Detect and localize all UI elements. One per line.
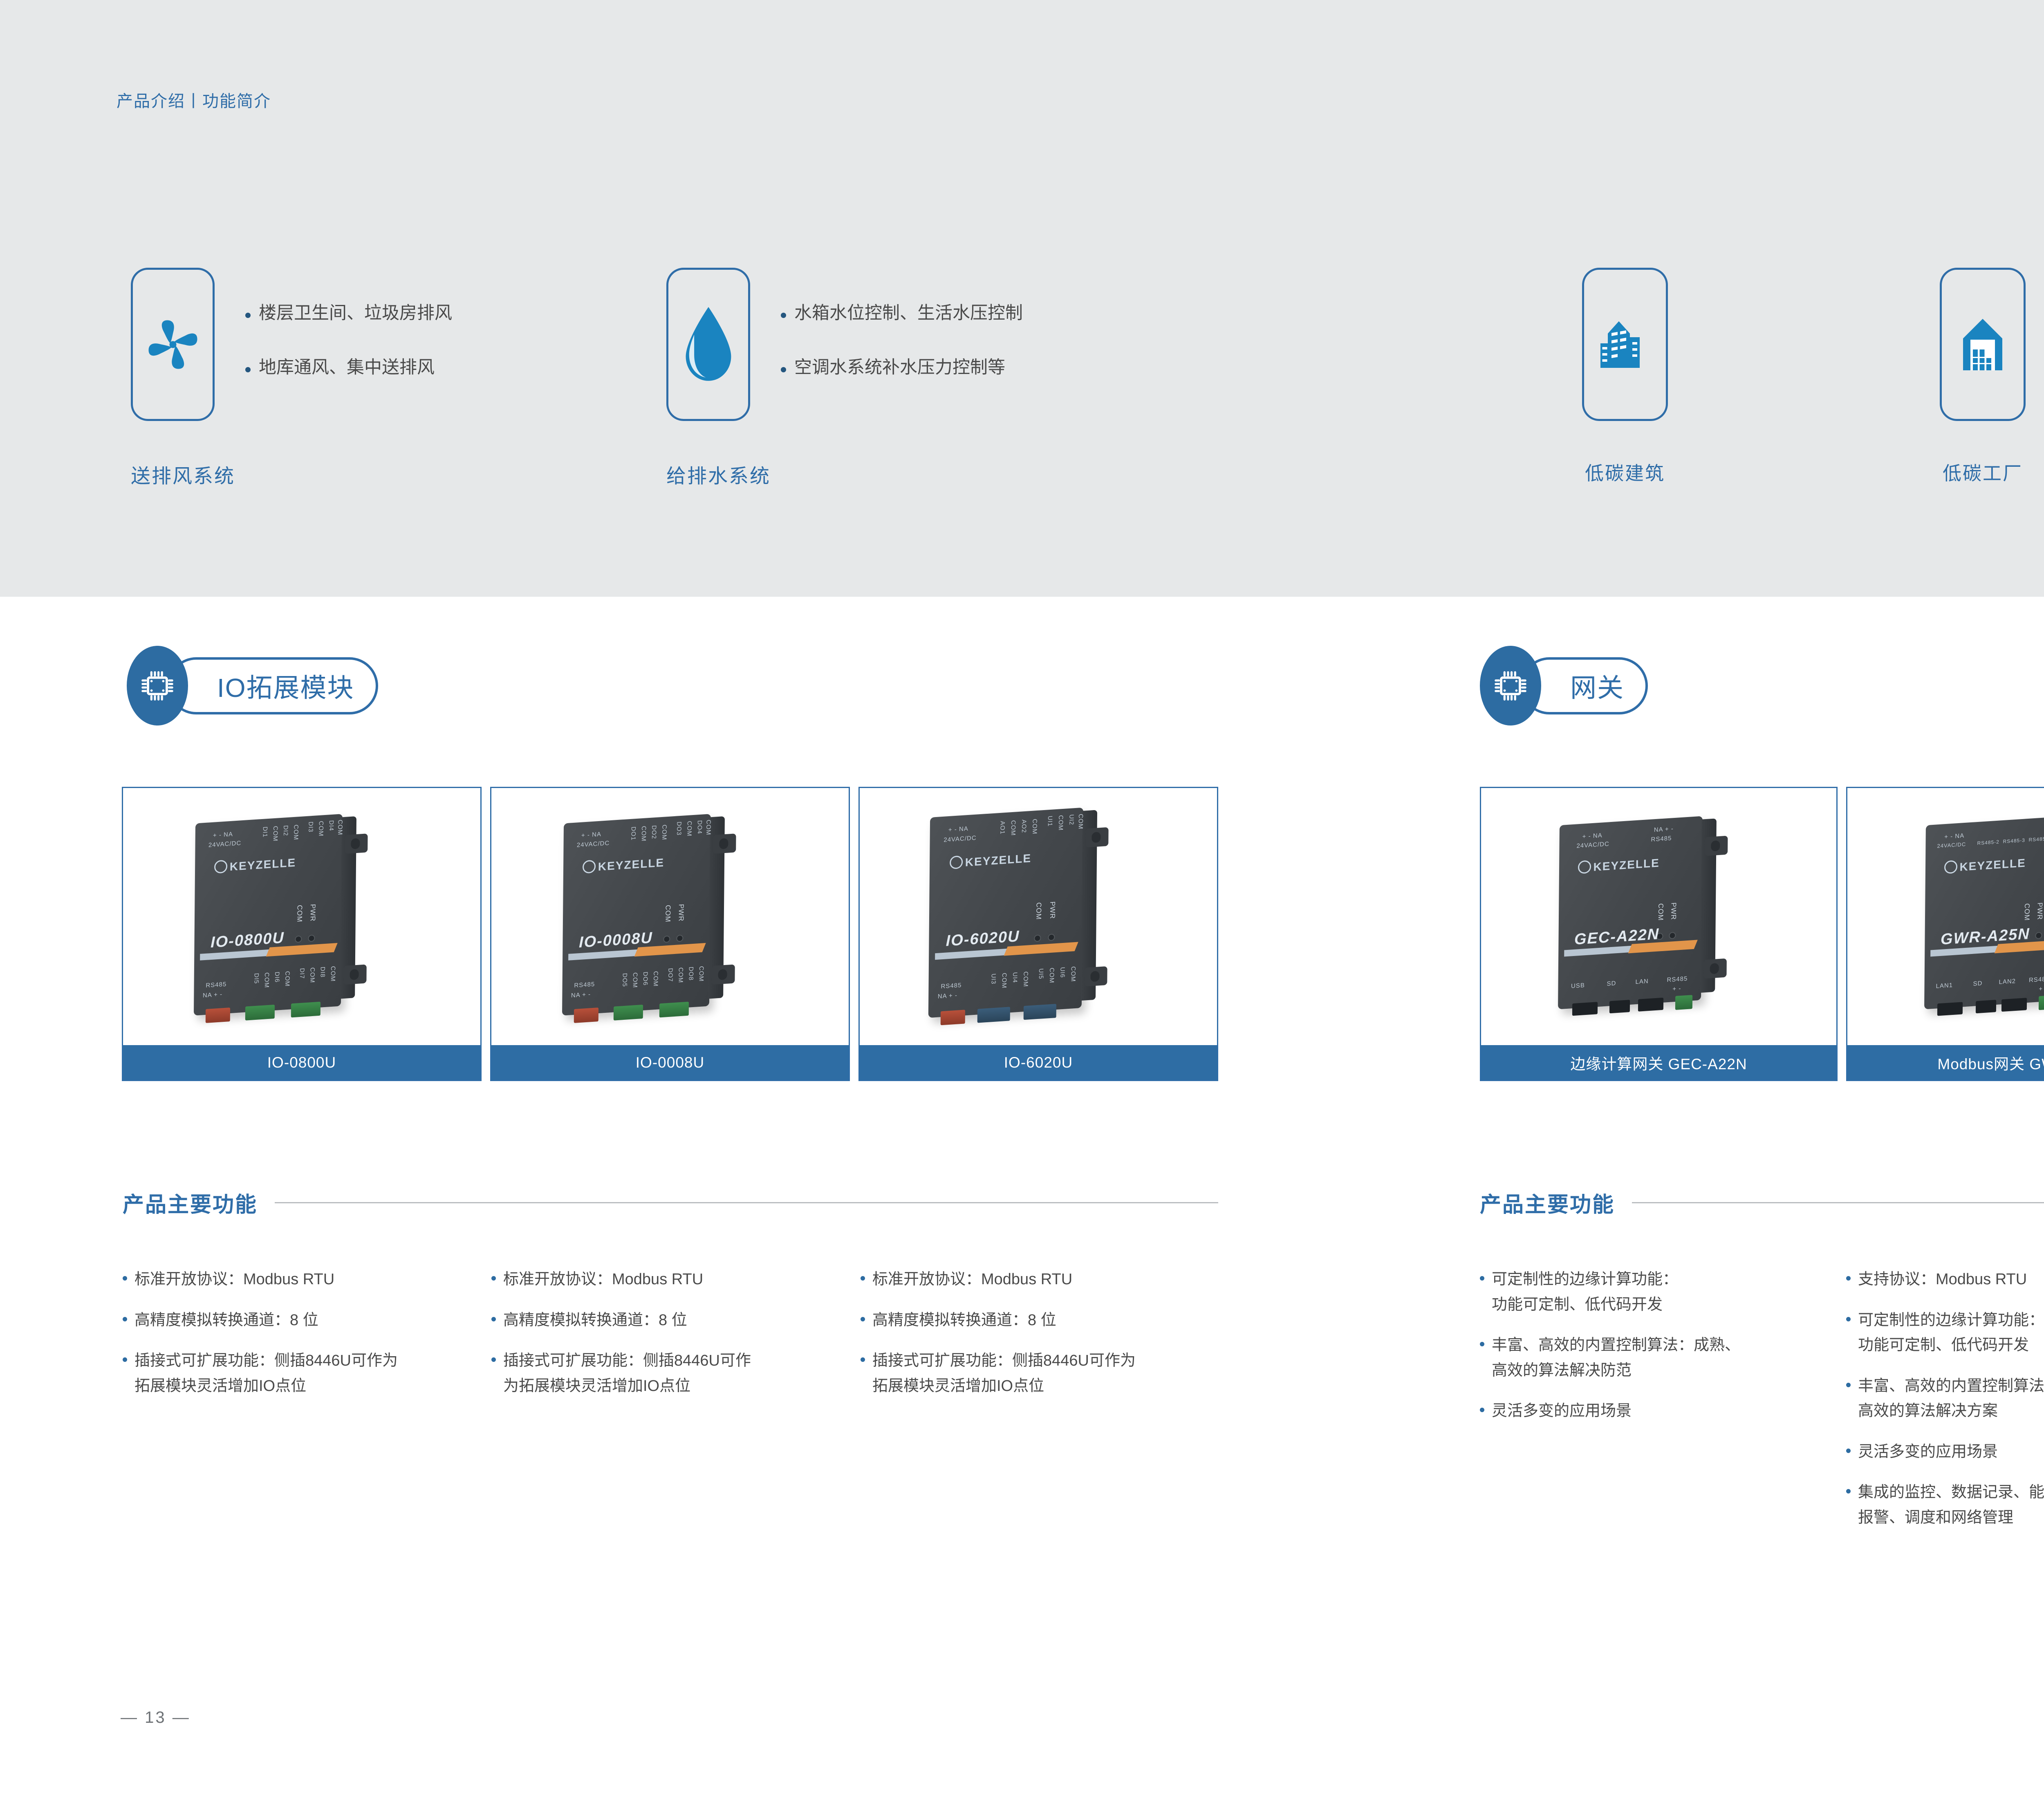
section-title-pill-io: IO拓展模块 (168, 657, 378, 714)
product-name: 边缘计算网关 GEC-A22N (1481, 1045, 1836, 1080)
port-label-rs485-3: RS485-3 (2003, 837, 2025, 844)
feature-item: 可定制性的边缘计算功能： 功能可定制、低代码开发 (1480, 1267, 1827, 1317)
bullet-dot (1480, 1342, 1484, 1346)
product-name: IO-0008U (491, 1045, 849, 1080)
power-pins-label: + - NA (581, 831, 601, 839)
port-label-rs485-1: RS485-1 (2029, 975, 2044, 984)
mount-ear-top (713, 833, 736, 854)
port-label-rs485-2: RS485-2 (1977, 839, 1999, 846)
terminal-com: COM (284, 971, 291, 987)
running-head-left: 产品介绍丨功能简介 (117, 88, 271, 112)
terminal-com: COM (309, 967, 316, 983)
terminal-com: COM (677, 967, 684, 983)
feature-item: 灵活多变的应用场景 (1480, 1399, 1827, 1424)
feature-text: 插接式可扩展功能：侧插8446U可作为 拓展模块灵活增加IO点位 (872, 1348, 1136, 1399)
bullet-dot (781, 367, 786, 372)
port-label-lan1: LAN1 (1936, 982, 1953, 990)
ventilation-bullets: 楼层卫生间、垃圾房排风 地库通风、集中送排风 (245, 304, 452, 413)
terminal-ui3: UI3 (990, 973, 997, 984)
terminal-ao2: AO2 (1020, 819, 1027, 833)
page-number-left: — 13 — (121, 1708, 191, 1727)
feature-item: 支持协议：Modbus RTU (1846, 1267, 2044, 1292)
feature-text: 可定制性的边缘计算功能： 功能可定制、低代码开发 (1492, 1267, 1678, 1317)
feature-column-gw-2: 支持协议：Modbus RTU 可定制性的边缘计算功能： 功能可定制、低代码开发… (1846, 1267, 2044, 1546)
connector-power (206, 1008, 230, 1023)
port-label-sd: SD (1973, 980, 1982, 987)
led-label-com: COM (295, 905, 303, 923)
terminal-com: COM (292, 824, 299, 840)
feature-item: 标准开放协议：Modbus RTU (123, 1267, 478, 1292)
terminal-com: COM (632, 972, 639, 988)
led-pwr (1048, 934, 1055, 941)
terminal-com: COM (1010, 820, 1017, 836)
mount-ear-top (345, 833, 368, 854)
bullet-dot (491, 1276, 496, 1281)
power-pins-label: + - NA (948, 825, 968, 833)
product-name: Modbus网关 GWR-A25N (1847, 1045, 2044, 1080)
connector-do-2 (659, 1002, 688, 1018)
led-label-pwr: PWR (677, 904, 685, 922)
port-pins: + - (2039, 985, 2044, 992)
bullet-dot (491, 1357, 496, 1362)
port-label-sd: SD (1607, 980, 1616, 987)
rs485-label: RS485 (941, 982, 961, 990)
chip-icon (1492, 667, 1529, 705)
bullet-dot (491, 1317, 496, 1321)
product-card[interactable]: + - NA 24VAC/DC AO1 COM AO2 COM UI1 COM … (858, 787, 1218, 1081)
device-illustration: + - NA 24VAC/DC NA + - RS485 KEYZELLE CO… (1558, 816, 1703, 1010)
bullet-item: 水箱水位控制、生活水压控制 (781, 304, 1023, 323)
feature-item: 插接式可扩展功能：侧插8446U可作为 拓展模块灵活增加IO点位 (123, 1348, 478, 1399)
feature-item: 插接式可扩展功能：侧插8446U可作 为拓展模块灵活增加IO点位 (491, 1348, 847, 1399)
port-label-usb: USB (1571, 982, 1585, 990)
feature-text: 集成的监控、数据记录、能耗计量、 报警、调度和网络管理 (1858, 1480, 2044, 1530)
terminal-di3: DI3 (307, 822, 314, 833)
bullet-text: 水箱水位控制、生活水压控制 (794, 304, 1023, 323)
brand-logo: KEYZELLE (1944, 855, 2026, 875)
led-pwr (308, 935, 315, 942)
brand-text: KEYZELLE (1593, 856, 1659, 873)
terminal-com: COM (1057, 815, 1064, 831)
power-pins-label: + - NA (1582, 832, 1602, 840)
terminal-ui2: UI2 (1068, 814, 1075, 825)
feature-text: 丰富、高效的内置控制算法：成熟、 高效的算法解决防范 (1492, 1333, 1740, 1383)
terminal-do8: DO8 (688, 967, 695, 981)
brand-text: KEYZELLE (230, 856, 296, 873)
port-lan1 (1937, 1002, 1962, 1016)
brand-mark-icon (950, 855, 963, 869)
brand-mark-icon (1578, 860, 1591, 874)
bullet-text: 地库通风、集中送排风 (259, 358, 435, 377)
brand-text: KEYZELLE (965, 852, 1031, 869)
feature-item: 插接式可扩展功能：侧插8446U可作为 拓展模块灵活增加IO点位 (861, 1348, 1220, 1399)
feature-text: 插接式可扩展功能：侧插8446U可作为 拓展模块灵活增加IO点位 (134, 1348, 398, 1399)
terminal-ao1: AO1 (999, 821, 1006, 835)
terminal-di1: DI1 (262, 826, 269, 837)
bullet-item: 地库通风、集中送排风 (245, 358, 452, 377)
led-label-pwr: PWR (1048, 901, 1056, 919)
port-label-rs485: RS485 (1667, 975, 1688, 983)
port-usb (1572, 1002, 1598, 1016)
bullet-dot (781, 313, 786, 318)
section-title-gateway: 网关 (1570, 667, 1624, 705)
connector-rs485 (1675, 995, 1692, 1010)
connector-di-2 (291, 1002, 320, 1018)
features-title-right: 产品主要功能 (1480, 1187, 2044, 1218)
mount-ear-bottom (1084, 966, 1107, 987)
product-photo: + - NA 24VAC/DC DO1 COM DO2 COM DO3 COM … (491, 788, 849, 1045)
brand-mark-icon (214, 860, 227, 873)
device-illustration: + - NA 24VAC/DC DO1 COM DO2 COM DO3 COM … (562, 814, 711, 1016)
product-card[interactable]: + - NA 24VAC/DC NA + - RS485 KEYZELLE CO… (1480, 787, 1838, 1081)
terminal-do4: DO4 (696, 820, 703, 835)
terminal-ui1: UI1 (1047, 815, 1053, 826)
connector-ui-2 (1023, 1004, 1056, 1020)
rs485-label: RS485 (206, 981, 226, 989)
led-com (663, 936, 670, 943)
terminal-di7: DI7 (298, 968, 305, 979)
device-illustration: + - NA 24VAC/DC AO1 COM AO2 COM UI1 COM … (928, 808, 1083, 1018)
bullet-dot (1846, 1489, 1851, 1493)
terminal-di4: DI4 (328, 820, 335, 831)
brochure-spread: 产品介绍丨功能简介 产品介绍丨功能简介 楼层卫生间、垃圾房排风 (0, 0, 2044, 1798)
product-card[interactable]: + - NA 24VAC/DC RS485-2 RS485-3 RS485-4 … (1846, 787, 2044, 1081)
led-pwr (677, 935, 684, 942)
terminal-com: COM (1069, 966, 1076, 982)
terminal-do5: DO5 (621, 973, 628, 987)
feature-item: 集成的监控、数据记录、能耗计量、 报警、调度和网络管理 (1846, 1480, 2044, 1530)
features-title-left: 产品主要功能 (123, 1187, 1218, 1218)
power-label: 24VAC/DC (1576, 840, 1609, 849)
chip-icon (139, 667, 176, 705)
feature-column-gw-1: 可定制性的边缘计算功能： 功能可定制、低代码开发 丰富、高效的内置控制算法：成熟… (1480, 1267, 1827, 1440)
mount-ear-top (1085, 827, 1108, 848)
led-label-com: COM (1656, 903, 1665, 921)
feature-column-io-1: 标准开放协议：Modbus RTU 高精度模拟转换通道：8 位 插接式可扩展功能… (123, 1267, 478, 1414)
mount-ear-top (1705, 836, 1728, 856)
feature-text: 标准开放协议：Modbus RTU (503, 1267, 703, 1292)
connector-di-1 (245, 1005, 275, 1021)
feature-text: 支持协议：Modbus RTU (1858, 1267, 2027, 1292)
terminal-do2: DO2 (650, 825, 657, 839)
terminal-com: COM (317, 821, 324, 837)
feature-text: 灵活多变的应用场景 (1492, 1399, 1632, 1424)
terminal-do6: DO6 (642, 972, 649, 986)
bullet-dot (1480, 1408, 1484, 1412)
terminal-com: COM (686, 821, 693, 837)
product-card[interactable]: + - NA 24VAC/DC DI1 COM DI2 COM DI3 COM … (122, 787, 482, 1081)
terminal-com: COM (640, 826, 647, 842)
port-lan (1638, 998, 1663, 1012)
led-label-pwr: PWR (1669, 902, 1677, 920)
top-grey-band (0, 0, 2044, 597)
terminal-ui6: UI6 (1059, 967, 1066, 978)
bullet-dot (1846, 1449, 1851, 1453)
office-building-icon-frame (1582, 268, 1668, 421)
rs485-label: RS485 (1651, 835, 1672, 843)
scenario-caption: 给排水系统 (666, 460, 771, 488)
chip-icon-badge (127, 646, 188, 725)
mount-ear-bottom (712, 964, 735, 985)
bullet-dot (1846, 1383, 1851, 1387)
feature-item: 高精度模拟转换通道：8 位 (861, 1308, 1220, 1333)
scenario-caption: 送排风系统 (131, 460, 235, 488)
bullet-text: 空调水系统补水压力控制等 (794, 358, 1005, 377)
port-label-rs485-4: RS485-4 (2028, 835, 2044, 843)
terminal-com: COM (329, 966, 336, 982)
chip-icon-badge (1480, 646, 1541, 725)
power-pins-label: + - NA (213, 831, 233, 839)
led-label-com: COM (2023, 903, 2031, 921)
connector-do-1 (614, 1005, 643, 1021)
led-pwr (2035, 932, 2042, 939)
rs485-pins: NA + - (1654, 825, 1674, 833)
feature-text: 标准开放协议：Modbus RTU (134, 1267, 334, 1292)
port-label-lan2: LAN2 (1999, 978, 2016, 986)
brand-text: KEYZELLE (1959, 856, 2026, 873)
led-pwr (1669, 932, 1676, 939)
brand-logo: KEYZELLE (214, 855, 296, 875)
bullet-text: 楼层卫生间、垃圾房排风 (259, 304, 452, 323)
feature-item: 可定制性的边缘计算功能： 功能可定制、低代码开发 (1846, 1308, 2044, 1358)
water-drop-icon (678, 305, 739, 384)
terminal-com: COM (1031, 818, 1038, 834)
port-sd (1976, 1000, 1996, 1013)
terminal-do3: DO3 (675, 822, 682, 836)
product-card[interactable]: + - NA 24VAC/DC DO1 COM DO2 COM DO3 COM … (490, 787, 850, 1081)
terminal-ui5: UI5 (1038, 968, 1044, 979)
terminal-com: COM (652, 971, 659, 987)
water-drop-icon-frame (666, 268, 750, 421)
product-photo: + - NA 24VAC/DC NA + - RS485 KEYZELLE CO… (1481, 788, 1836, 1045)
power-label: 24VAC/DC (577, 840, 610, 849)
bullet-dot (123, 1317, 127, 1321)
product-photo: + - NA 24VAC/DC DI1 COM DI2 COM DI3 COM … (123, 788, 480, 1045)
mount-ear-bottom (343, 964, 366, 985)
title-rule (1632, 1202, 2044, 1203)
terminal-di8: DI8 (319, 967, 326, 978)
rs485-pins: NA + - (571, 991, 591, 999)
terminal-com: COM (1048, 967, 1055, 983)
feature-column-io-3: 标准开放协议：Modbus RTU 高精度模拟转换通道：8 位 插接式可扩展功能… (861, 1267, 1220, 1414)
office-building-icon (1594, 314, 1656, 375)
feature-text: 插接式可扩展功能：侧插8446U可作 为拓展模块灵活增加IO点位 (503, 1348, 751, 1399)
bullet-dot (245, 367, 251, 372)
feature-item: 高精度模拟转换通道：8 位 (123, 1308, 478, 1333)
features-title-text: 产品主要功能 (123, 1187, 258, 1218)
feature-text: 标准开放协议：Modbus RTU (872, 1267, 1072, 1292)
connector-ui-1 (977, 1007, 1010, 1023)
factory-icon (1952, 314, 2013, 375)
water-bullets: 水箱水位控制、生活水压控制 空调水系统补水压力控制等 (781, 304, 1023, 413)
low-carbon-caption: 低碳建筑 (1582, 459, 1668, 486)
rs485-label: RS485 (574, 981, 595, 989)
terminal-com: COM (661, 824, 668, 840)
led-label-com: COM (663, 905, 672, 923)
led-label-pwr: PWR (309, 904, 317, 922)
brand-logo: KEYZELLE (950, 851, 1032, 870)
terminal-di2: DI2 (282, 825, 289, 836)
low-carbon-building: 低碳建筑 (1582, 268, 1668, 486)
bullet-dot (1480, 1276, 1484, 1281)
led-com (295, 936, 302, 943)
feature-text: 高精度模拟转换通道：8 位 (134, 1308, 318, 1333)
bullet-dot (1846, 1276, 1851, 1281)
feature-item: 高精度模拟转换通道：8 位 (491, 1308, 847, 1333)
terminal-com: COM (263, 972, 270, 988)
brand-logo: KEYZELLE (583, 855, 665, 875)
bullet-item: 楼层卫生间、垃圾房排风 (245, 304, 452, 323)
port-pins: + - (1672, 985, 1681, 992)
feature-text: 高精度模拟转换通道：8 位 (872, 1308, 1056, 1333)
power-label: 24VAC/DC (1937, 841, 1966, 849)
brand-text: KEYZELLE (598, 856, 664, 873)
connector-rs485 (2039, 995, 2044, 1010)
port-sd (1609, 1000, 1630, 1013)
features-title-text: 产品主要功能 (1480, 1187, 1615, 1218)
feature-text: 灵活多变的应用场景 (1858, 1440, 1998, 1465)
rs485-pins: NA + - (203, 991, 222, 999)
terminal-com: COM (1022, 971, 1029, 987)
feature-text: 可定制性的边缘计算功能： 功能可定制、低代码开发 (1858, 1308, 2044, 1358)
section-title-io: IO拓展模块 (217, 667, 354, 705)
terminal-com: COM (1077, 813, 1084, 829)
terminal-com: COM (336, 820, 343, 835)
power-label: 24VAC/DC (944, 835, 976, 844)
terminal-com: COM (705, 820, 712, 835)
feature-item: 灵活多变的应用场景 (1846, 1440, 2044, 1465)
feature-item: 丰富、高效的内置控制算法：成熟、 高效的算法解决防范 (1480, 1333, 1827, 1383)
port-label-lan: LAN (1635, 978, 1648, 985)
terminal-di5: DI5 (253, 973, 260, 984)
title-rule (275, 1202, 1218, 1203)
product-name: IO-0800U (123, 1045, 480, 1080)
product-name: IO-6020U (860, 1045, 1217, 1080)
feature-text: 高精度模拟转换通道：8 位 (503, 1308, 687, 1333)
bullet-dot (245, 313, 251, 318)
bullet-dot (123, 1276, 127, 1281)
device-illustration: + - NA 24VAC/DC DI1 COM DI2 COM DI3 COM … (194, 814, 343, 1016)
terminal-do1: DO1 (630, 826, 637, 841)
led-label-pwr: PWR (2035, 902, 2044, 920)
terminal-do7: DO7 (667, 968, 674, 982)
device-illustration: + - NA 24VAC/DC RS485-2 RS485-3 RS485-4 … (1924, 816, 2044, 1010)
feature-column-io-2: 标准开放协议：Modbus RTU 高精度模拟转换通道：8 位 插接式可扩展功能… (491, 1267, 847, 1414)
terminal-com: COM (1001, 973, 1008, 989)
bullet-dot (861, 1276, 865, 1281)
fan-icon-frame (131, 268, 215, 421)
product-photo: + - NA 24VAC/DC RS485-2 RS485-3 RS485-4 … (1847, 788, 2044, 1045)
fan-icon (138, 310, 208, 379)
port-lan2 (2001, 998, 2027, 1012)
feature-item: 标准开放协议：Modbus RTU (491, 1267, 847, 1292)
bullet-item: 空调水系统补水压力控制等 (781, 358, 1023, 377)
terminal-ui4: UI4 (1011, 972, 1018, 983)
brand-logo: KEYZELLE (1578, 855, 1660, 875)
terminal-com: COM (272, 826, 279, 842)
bullet-dot (861, 1317, 865, 1321)
power-label: 24VAC/DC (208, 840, 241, 849)
bullet-dot (1846, 1317, 1851, 1321)
product-photo: + - NA 24VAC/DC AO1 COM AO2 COM UI1 COM … (860, 788, 1217, 1045)
feature-text: 丰富、高效的内置控制算法：成熟、 高效的算法解决方案 (1858, 1374, 2044, 1424)
low-carbon-factory: 低碳工厂 (1940, 268, 2026, 486)
feature-item: 丰富、高效的内置控制算法：成熟、 高效的算法解决方案 (1846, 1374, 2044, 1424)
brand-mark-icon (583, 860, 596, 873)
terminal-com: COM (698, 966, 705, 982)
factory-icon-frame (1940, 268, 2026, 421)
led-label-com: COM (1034, 902, 1042, 920)
rs485-pins: NA + - (938, 992, 957, 1000)
connector-power (574, 1008, 598, 1023)
feature-item: 标准开放协议：Modbus RTU (861, 1267, 1220, 1292)
bullet-dot (123, 1357, 127, 1362)
power-pins-label: + - NA (1944, 832, 1964, 840)
mount-ear-bottom (1703, 958, 1726, 979)
brand-mark-icon (1944, 860, 1957, 874)
led-com (1034, 934, 1041, 942)
terminal-di6: DI6 (273, 972, 280, 983)
bullet-dot (861, 1357, 865, 1362)
low-carbon-caption: 低碳工厂 (1940, 459, 2026, 486)
connector-power (941, 1010, 965, 1025)
